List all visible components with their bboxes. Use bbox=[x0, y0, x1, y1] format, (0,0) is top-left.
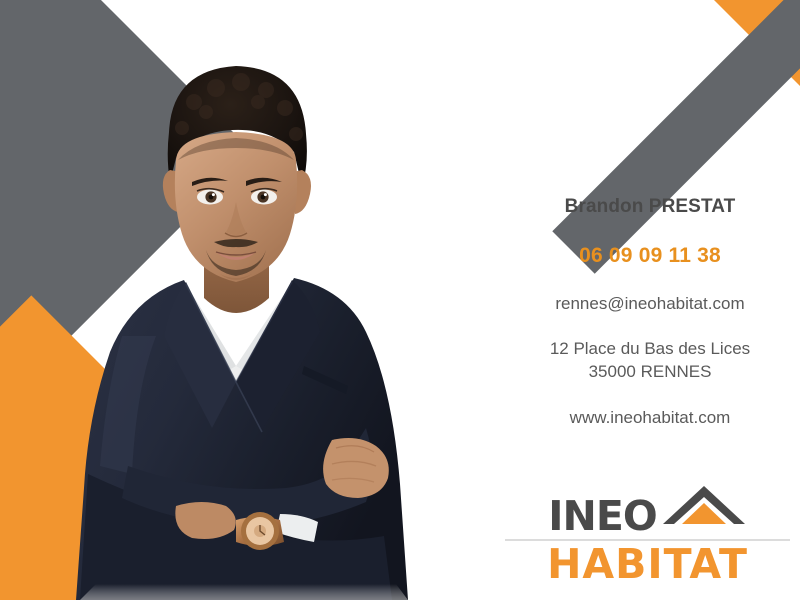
company-logo[interactable]: INEO HABITAT bbox=[505, 488, 790, 588]
logo-word-ineo: INEO bbox=[548, 497, 656, 536]
contact-info-block: Brandon PRESTAT 06 09 09 11 38 rennes@in… bbox=[500, 196, 800, 428]
contact-email[interactable]: rennes@ineohabitat.com bbox=[500, 294, 800, 314]
portrait-photo bbox=[36, 36, 506, 600]
contact-address: 12 Place du Bas des Lices 35000 RENNES bbox=[500, 338, 800, 384]
contact-website[interactable]: www.ineohabitat.com bbox=[500, 408, 800, 428]
business-card: Brandon PRESTAT 06 09 09 11 38 rennes@in… bbox=[0, 0, 800, 600]
roof-chevron-icon bbox=[661, 484, 747, 535]
contact-address-line-2: 35000 RENNES bbox=[500, 361, 800, 384]
logo-top-row: INEO bbox=[505, 488, 790, 536]
contact-phone[interactable]: 06 09 09 11 38 bbox=[500, 244, 800, 268]
logo-word-habitat: HABITAT bbox=[505, 543, 790, 586]
contact-name: Brandon PRESTAT bbox=[500, 196, 800, 218]
contact-address-line-1: 12 Place du Bas des Lices bbox=[500, 338, 800, 361]
